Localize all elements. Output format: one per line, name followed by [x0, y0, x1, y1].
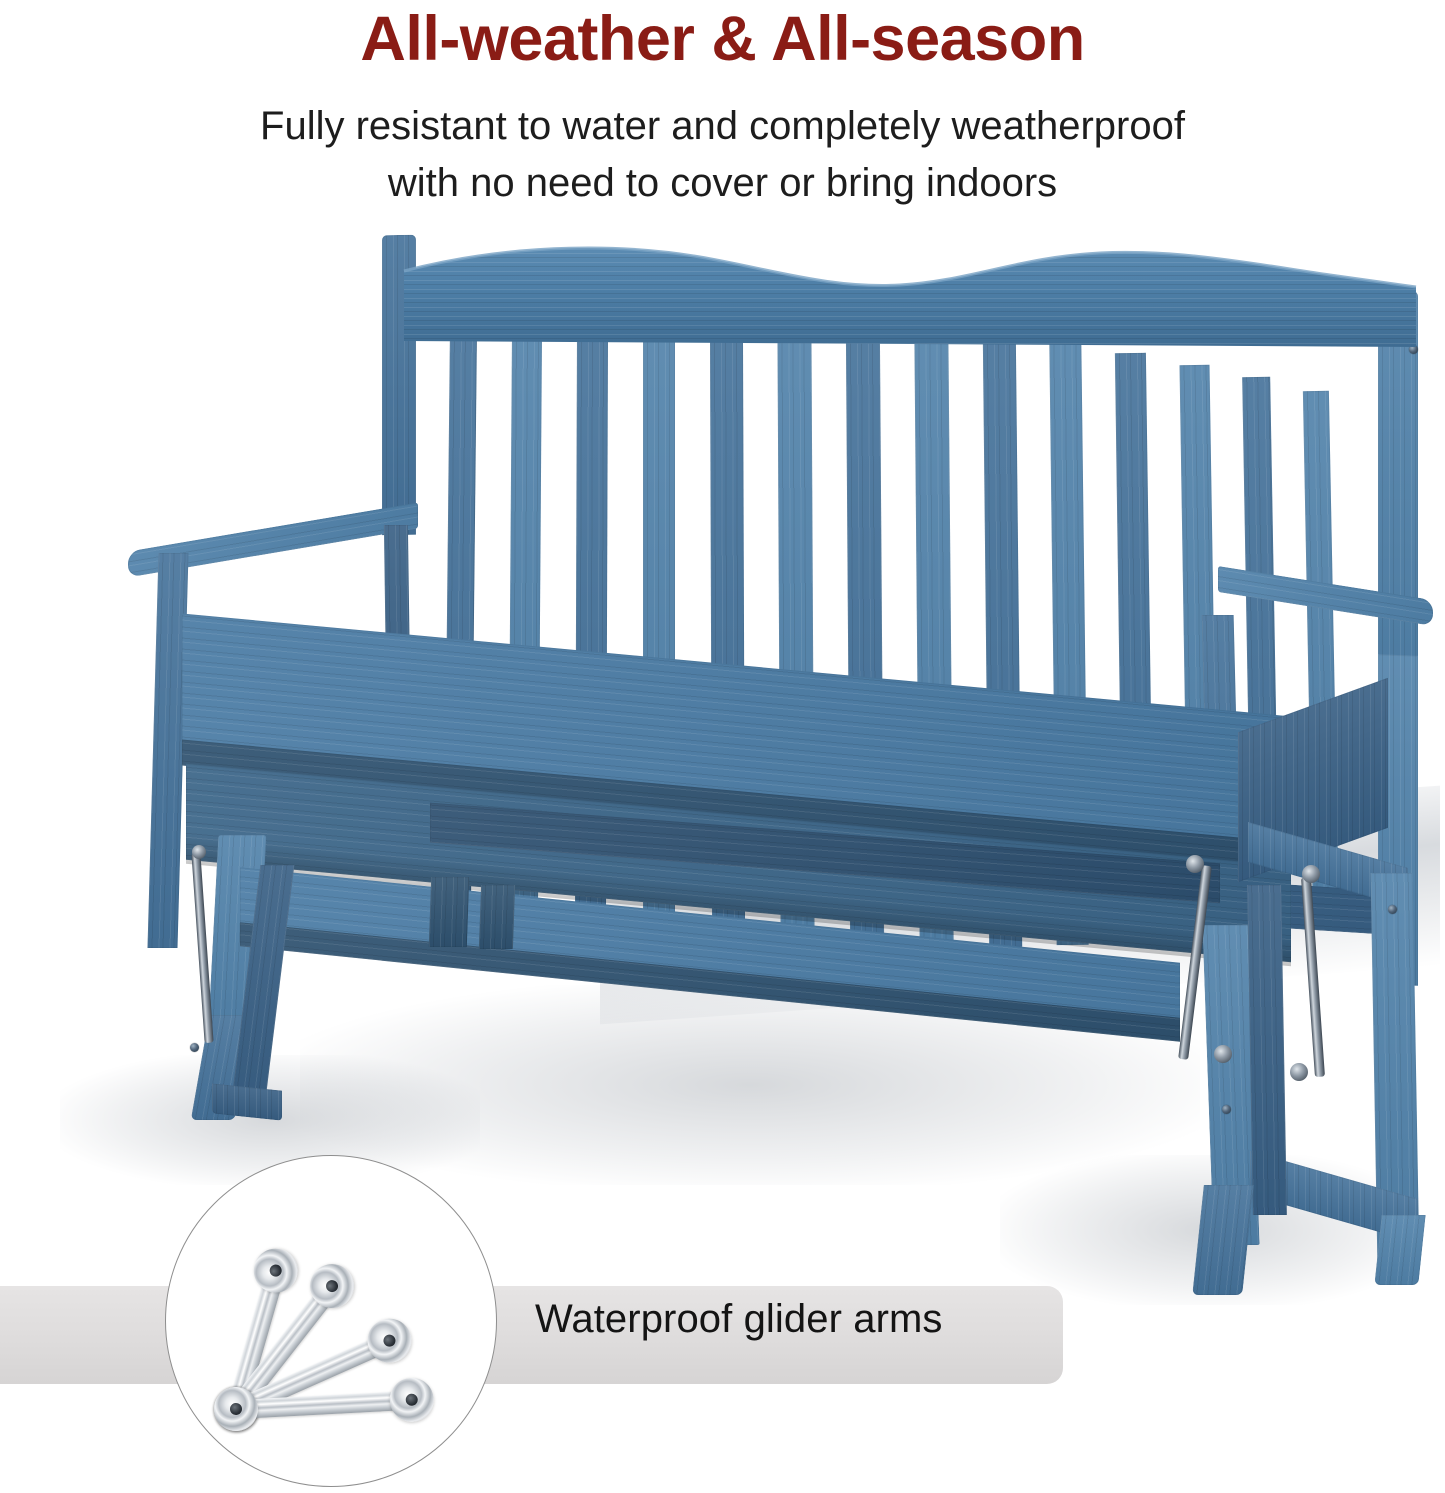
subheadline-line-1: Fully resistant to water and completely …: [0, 98, 1445, 155]
headline: All-weather & All-season: [0, 6, 1445, 72]
screw-left-base-bottom: [190, 1043, 199, 1052]
glider-rod-outer-eye-bottom: [1290, 1063, 1308, 1081]
glider-rod-outer-eye-top: [1302, 865, 1320, 883]
screw-right-frame-top: [1388, 905, 1397, 914]
glider-rod-left-eye-top: [192, 845, 206, 859]
subheadline-line-2: with no need to cover or bring indoors: [0, 155, 1445, 212]
backrest-top-rail: [400, 235, 1420, 365]
subheadline: Fully resistant to water and completely …: [0, 98, 1445, 212]
seat-mid-support-left: [429, 877, 469, 947]
callout-label: Waterproof glider arms: [535, 1297, 943, 1342]
product-feature-image: All-weather & All-season Fully resistant…: [0, 0, 1445, 1493]
right-frame-inner-post: [1247, 885, 1287, 1215]
screw-right-base-top: [1222, 1105, 1231, 1114]
glider-rod-inner-eye-bottom: [1214, 1045, 1232, 1063]
right-leg: [1192, 1185, 1254, 1295]
glider-rod-left: [191, 853, 213, 1043]
right-leg-outer: [1374, 1215, 1425, 1285]
seat-mid-support-right: [479, 885, 515, 949]
glider-rod-inner-eye-top: [1186, 855, 1204, 873]
glider-arms-callout: [165, 1155, 497, 1487]
